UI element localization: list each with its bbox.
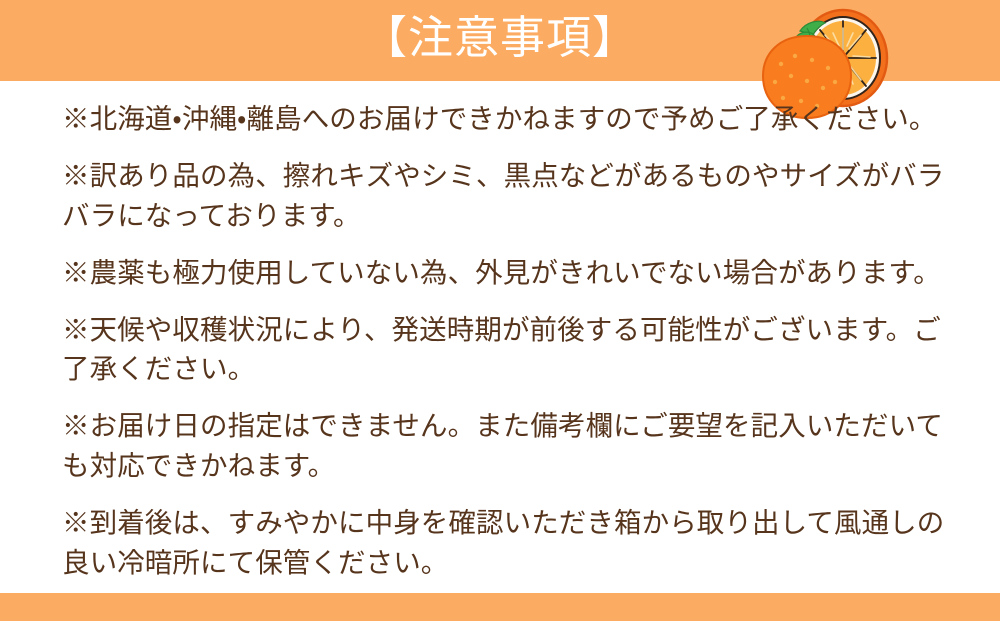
notice-list: ※北海道・沖縄・離島へのお届けできかねますので予めご了承ください。 ※訳あり品の… (62, 99, 952, 583)
page-title: 【注意事項】 (0, 0, 1000, 81)
notice-item: ※到着後は、すみやかに中身を確認いただき箱から取り出して風通しの良い冷暗所にて保… (62, 503, 952, 583)
notice-item: ※北海道・沖縄・離島へのお届けできかねますので予めご了承ください。 (62, 99, 952, 139)
notice-item: ※天候や収穫状況により、発送時期が前後する可能性がございます。ご了承ください。 (62, 310, 952, 390)
notice-item: ※訳あり品の為、擦れキズやシミ、黒点などがあるものやサイズがバラバラになっており… (62, 156, 952, 236)
notice-banner: 【注意事項】 (0, 0, 1000, 621)
footer-band (0, 593, 1000, 621)
notice-item: ※お届け日の指定はできません。また備考欄にご要望を記入いただいても対応できかねま… (62, 406, 952, 486)
notice-item: ※農薬も極力使用していない為、外見がきれいでない場合があります。 (62, 253, 952, 293)
